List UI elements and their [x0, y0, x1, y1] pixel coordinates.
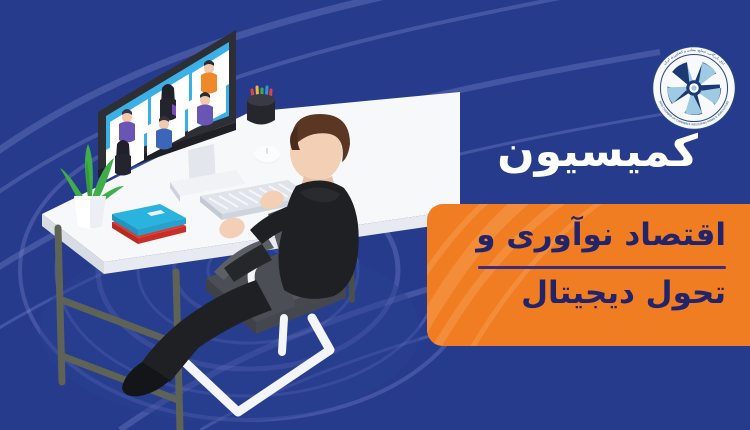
title-divider [478, 266, 726, 269]
mouse [254, 146, 280, 164]
title-line-1: اقتصاد نوآوری و [478, 218, 726, 252]
title-accent-panel: اقتصاد نوآوری و تحول دیجیتال [427, 204, 750, 346]
pencil-holder [247, 87, 275, 125]
poster-canvas: اتاق بازرگانی، صنایع، معادن و کشاورزی ای… [0, 0, 750, 430]
chamber-emblem-logo: اتاق بازرگانی، صنایع، معادن و کشاورزی ای… [651, 45, 737, 131]
avatar-tile-2 [160, 84, 176, 121]
avatar-tile-4 [115, 140, 131, 176]
workspace-illustration [0, 0, 460, 430]
title-line-2: تحول دیجیتال [478, 276, 726, 310]
page-title: کمیسیون [358, 129, 698, 175]
